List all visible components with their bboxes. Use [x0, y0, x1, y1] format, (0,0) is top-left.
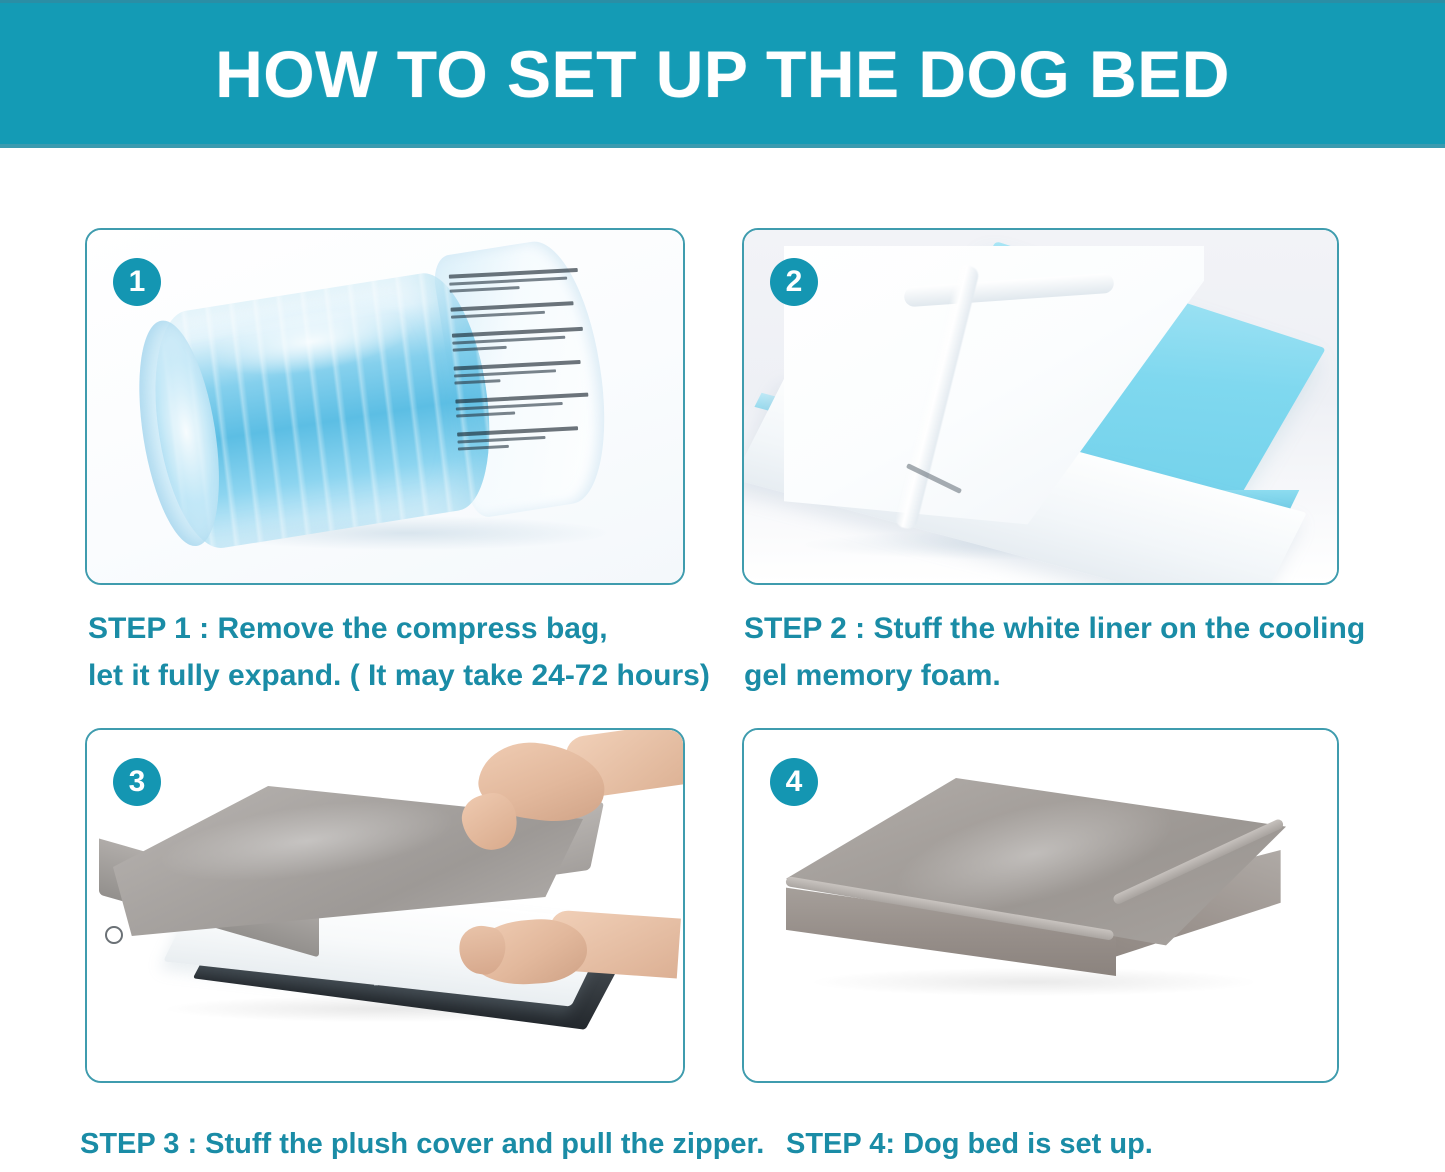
warning-label-text [449, 268, 594, 481]
step-3-caption: STEP 3 : Stuff the plush cover and pull … [80, 1122, 764, 1167]
step-4-caption: STEP 4: Dog bed is set up. [786, 1122, 1153, 1167]
step-badge-3: 3 [113, 758, 161, 806]
step-panel-1: 1 [85, 228, 685, 585]
step-3-illustration [87, 730, 683, 1081]
header-banner: HOW TO SET UP THE DOG BED [0, 0, 1445, 148]
drop-shadow [814, 968, 1254, 996]
step-panel-2: 2 [742, 228, 1339, 585]
step-panel-3: 3 [85, 728, 685, 1083]
step-panel-4: 4 [742, 728, 1339, 1083]
page-title: HOW TO SET UP THE DOG BED [215, 41, 1230, 107]
step-2-caption: STEP 2 : Stuff the white liner on the co… [744, 606, 1384, 699]
step-4-illustration [744, 730, 1337, 1081]
zipper-pull-icon [105, 926, 123, 944]
step-badge-1: 1 [113, 258, 161, 306]
step-2-illustration [744, 230, 1337, 583]
foam-slab-group [754, 240, 1334, 570]
step-1-illustration [87, 230, 683, 583]
step-1-caption: STEP 1 : Remove the compress bag, let it… [88, 606, 728, 699]
step-badge-2: 2 [770, 258, 818, 306]
step-badge-4: 4 [770, 758, 818, 806]
